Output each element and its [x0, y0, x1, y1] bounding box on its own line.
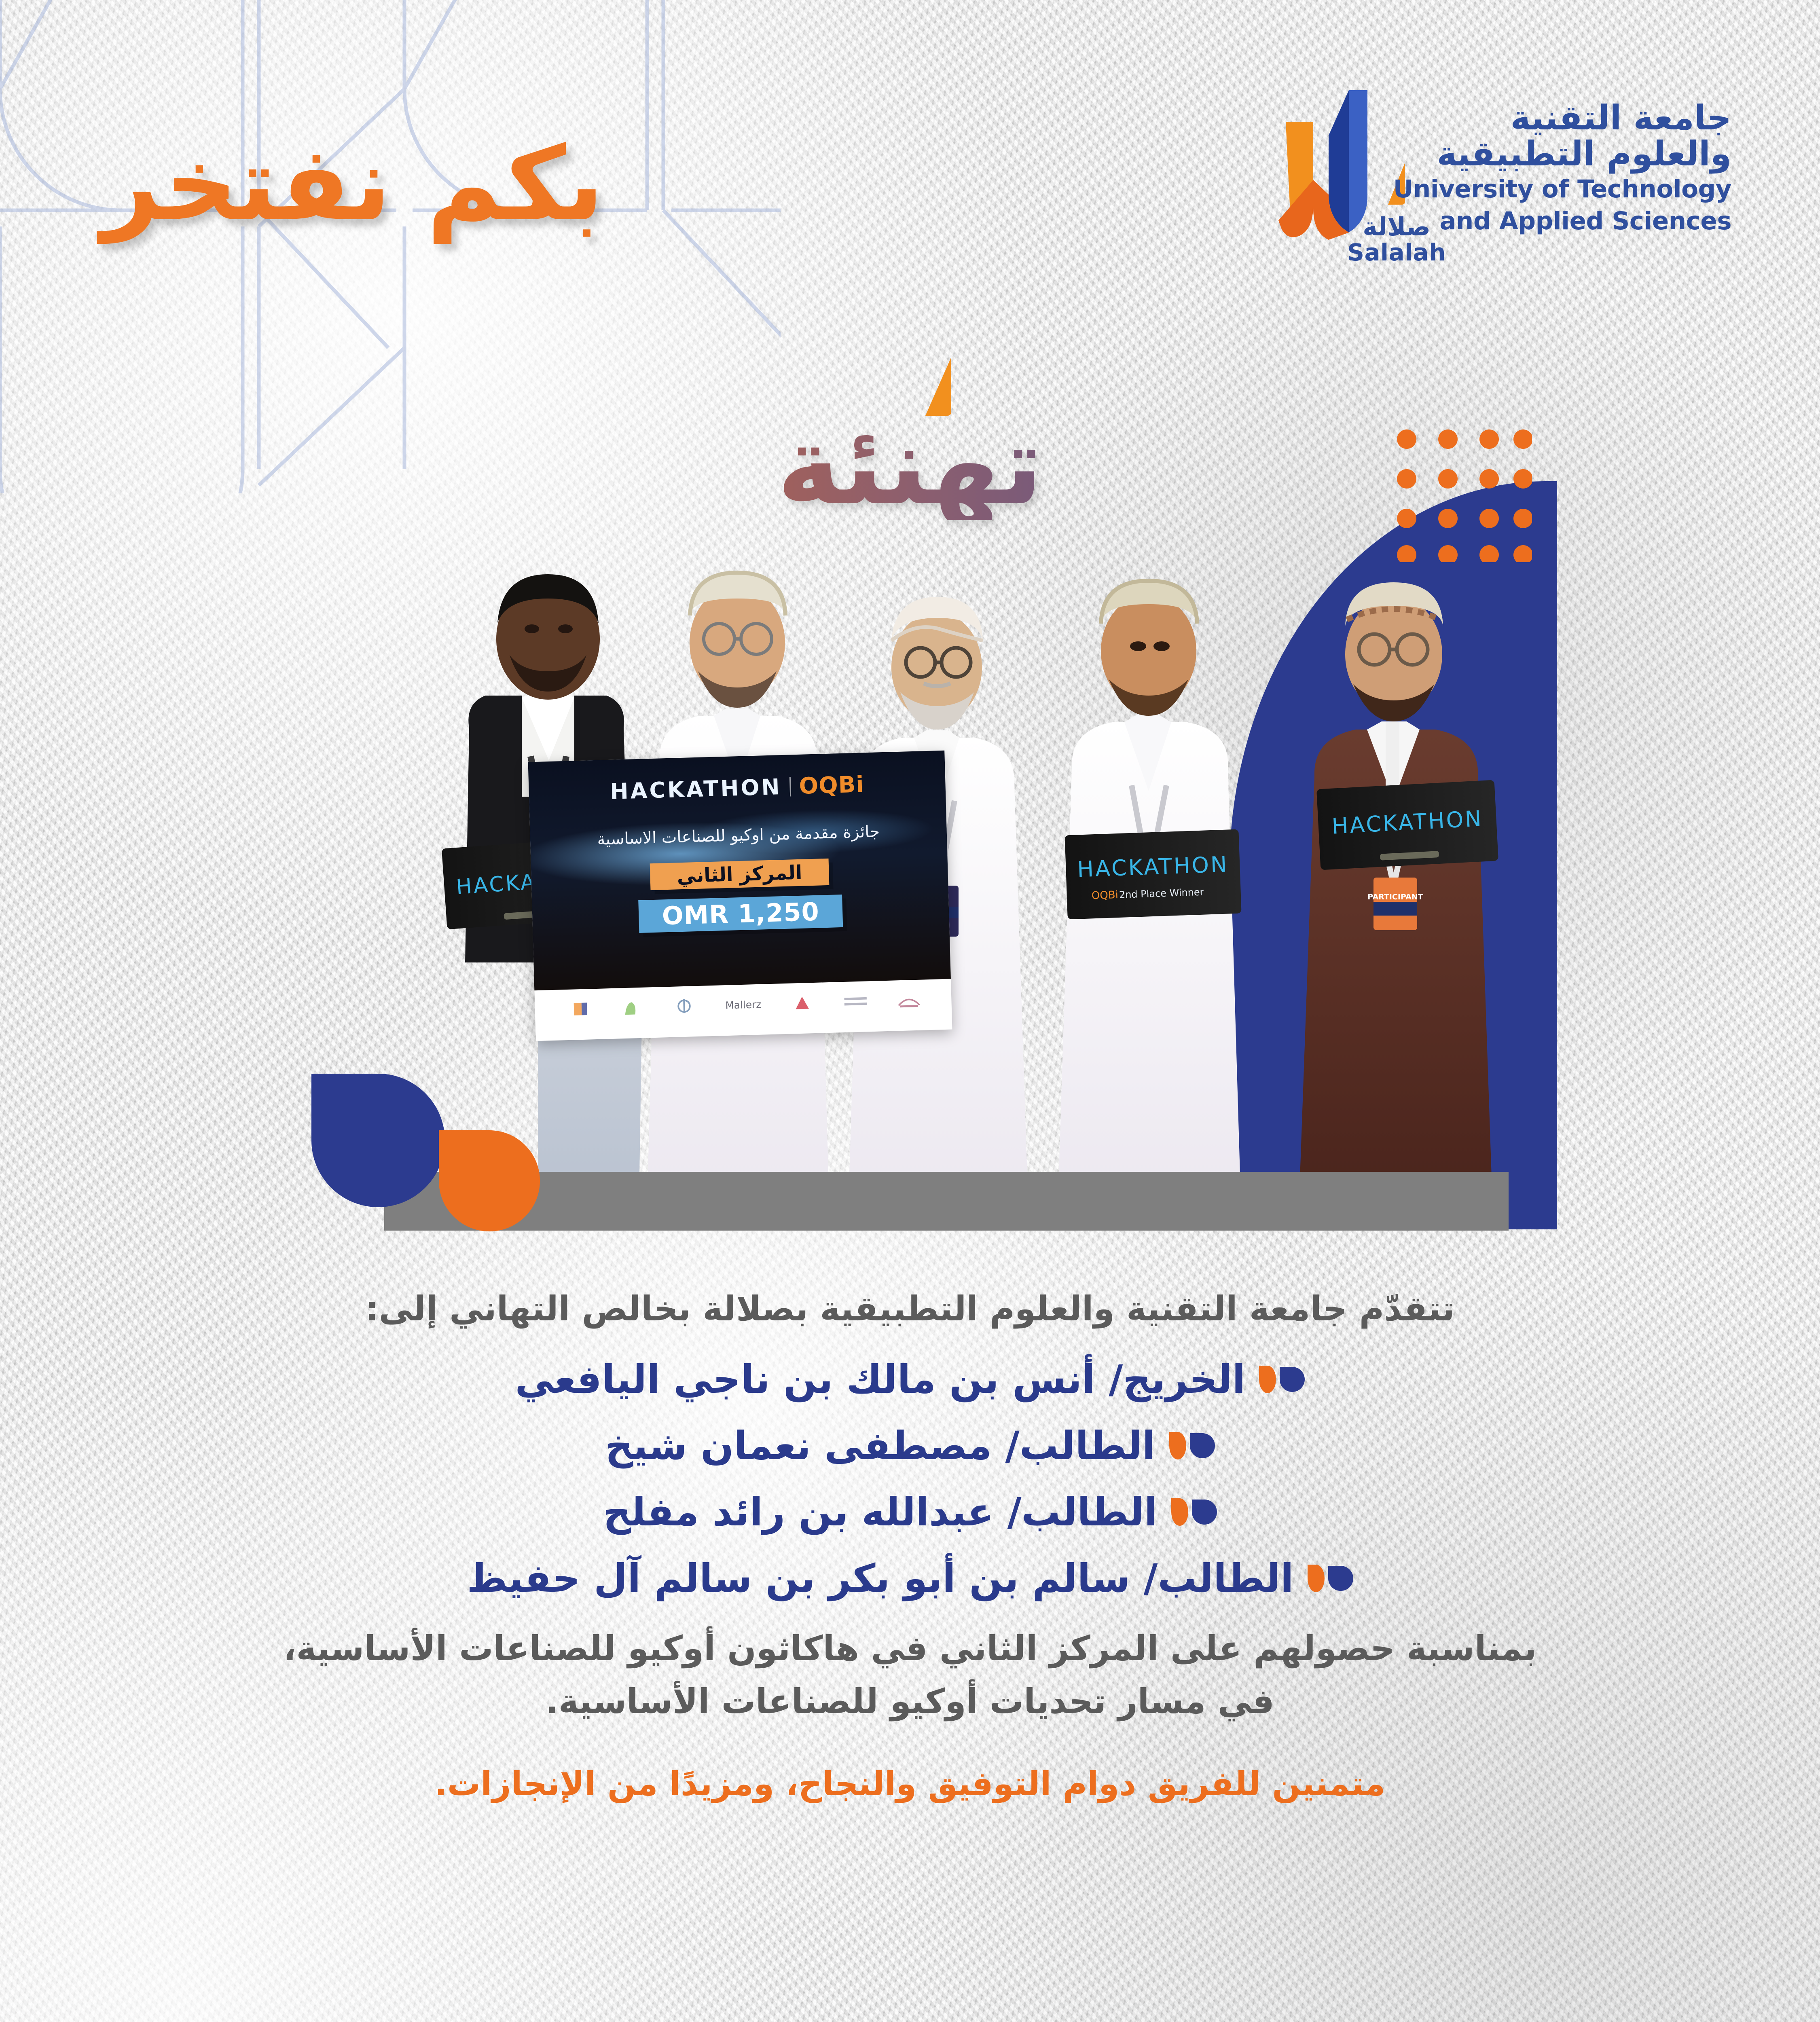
- decor-petal-blue: [311, 1074, 445, 1207]
- award-board: OQBi HACKATHON جائزة مقدمة من اوكيو للصن…: [528, 751, 952, 1041]
- svg-text:PARTICIPANT: PARTICIPANT: [1367, 893, 1423, 901]
- sponsor-logo-5: [667, 997, 702, 1015]
- achievement-paragraph: بمناسبة حصولهم على المركز الثاني في هاكا…: [0, 1622, 1820, 1727]
- brand-wordmark: جامعة التقنية والعلوم التطبيقية Universi…: [1393, 100, 1745, 236]
- award-board-amount: 1,250 OMR: [638, 895, 843, 933]
- svg-text:HACKATHON: HACKATHON: [1077, 851, 1229, 882]
- achievement-line-2: في مسار تحديات أوكيو للصناعات الأساسية.: [105, 1675, 1715, 1728]
- orange-dot-grid: [1395, 429, 1532, 562]
- bullet-marker-icon: [1308, 1565, 1353, 1592]
- list-item: الطالب/ مصطفى نعمان شيخ: [0, 1423, 1820, 1468]
- page-headline: بكم نفتخر: [101, 133, 604, 235]
- logo-divider: [789, 777, 791, 796]
- sponsor-logo-7: [560, 1000, 595, 1018]
- utas-brand-lockup: جامعة التقنية والعلوم التطبيقية Universi…: [1268, 87, 1745, 249]
- award-board-face: OQBi HACKATHON جائزة مقدمة من اوكيو للصن…: [528, 751, 951, 991]
- list-item: الطالب/ سالم بن أبو بكر بن سالم آل حفيظ: [0, 1556, 1820, 1601]
- bullet-marker-icon: [1171, 1498, 1217, 1526]
- sponsor-logo-2: [838, 992, 873, 1010]
- svg-text:Mallerz: Mallerz: [725, 998, 762, 1011]
- sponsor-logo-3: [785, 994, 820, 1012]
- sponsor-logo-6: [613, 998, 648, 1016]
- photo-floor-strip: [384, 1172, 1509, 1231]
- svg-text:OQBi: OQBi: [1091, 889, 1118, 902]
- honoree-name: الطالب/ عبدالله بن رائد مفلح: [603, 1489, 1158, 1535]
- sponsor-logo-4: Mallerz: [720, 995, 767, 1013]
- sponsor-logo-1: [891, 991, 927, 1009]
- award-winners-group-photo: PARTICIPANT: [348, 477, 1557, 1237]
- congratulation-message: تتقدّم جامعة التقنية والعلوم التطبيقية ب…: [0, 1286, 1820, 1803]
- honoree-name: الطالب/ سالم بن أبو بكر بن سالم آل حفيظ: [467, 1556, 1293, 1601]
- honoree-name: الطالب/ مصطفى نعمان شيخ: [605, 1423, 1155, 1468]
- achievement-line-1: بمناسبة حصولهم على المركز الثاني في هاكا…: [105, 1622, 1715, 1675]
- list-item: الخريج/ أنس بن مالك بن ناجي اليافعي: [0, 1357, 1820, 1402]
- hackathon-logo-text: HACKATHON: [610, 774, 782, 804]
- utas-logo-icon: [1268, 87, 1385, 249]
- honoree-name: الخريج/ أنس بن مالك بن ناجي اليافعي: [515, 1357, 1246, 1402]
- bullet-marker-icon: [1169, 1432, 1215, 1459]
- person-5: PARTICIPANT: [1299, 582, 1492, 1201]
- bullet-marker-icon: [1259, 1366, 1305, 1393]
- list-item: الطالب/ عبدالله بن رائد مفلح: [0, 1489, 1820, 1535]
- honoree-list: الخريج/ أنس بن مالك بن ناجي اليافعي الطا…: [0, 1357, 1820, 1601]
- brand-name-ar-2: والعلوم التطبيقية: [1393, 136, 1731, 172]
- intro-line: تتقدّم جامعة التقنية والعلوم التطبيقية ب…: [0, 1286, 1820, 1332]
- brand-name-en-1: University of Technology: [1393, 175, 1731, 204]
- award-board-rank: المركز الثاني: [650, 859, 829, 890]
- oqbi-logo-text: OQBi: [799, 771, 865, 799]
- event-photo: PARTICIPANT: [348, 477, 1557, 1237]
- decor-petal-orange: [439, 1130, 540, 1231]
- poster-canvas: بكم نفتخر صلالة Salalah جامعة التقنية وا…: [0, 0, 1820, 2022]
- brand-name-ar-1: جامعة التقنية: [1393, 100, 1731, 136]
- brand-name-en-2: and Applied Sciences: [1393, 207, 1731, 236]
- closing-wish: متمنين للفريق دوام التوفيق والنجاح، ومزي…: [0, 1765, 1820, 1803]
